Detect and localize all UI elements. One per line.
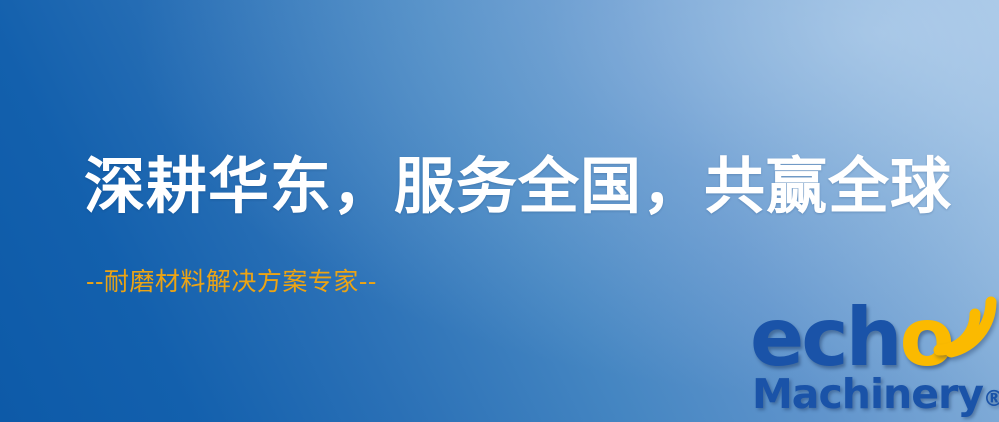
logo-tagline-text: Machinery [752, 370, 983, 418]
logo-echo-text: echo [750, 298, 952, 378]
signal-waves-icon [931, 294, 997, 356]
company-logo[interactable]: echo Machinery® [748, 296, 999, 422]
hero-banner: 深耕华东，服务全国，共赢全球 --耐磨材料解决方案专家-- echo Machi… [0, 0, 999, 422]
page-subtitle: --耐磨材料解决方案专家-- [86, 266, 377, 298]
page-title: 深耕华东，服务全国，共赢全球 [84, 152, 952, 222]
registered-trademark-icon: ® [983, 387, 999, 412]
logo-tagline: Machinery® [752, 372, 999, 422]
logo-wordmark: echo [748, 296, 999, 378]
